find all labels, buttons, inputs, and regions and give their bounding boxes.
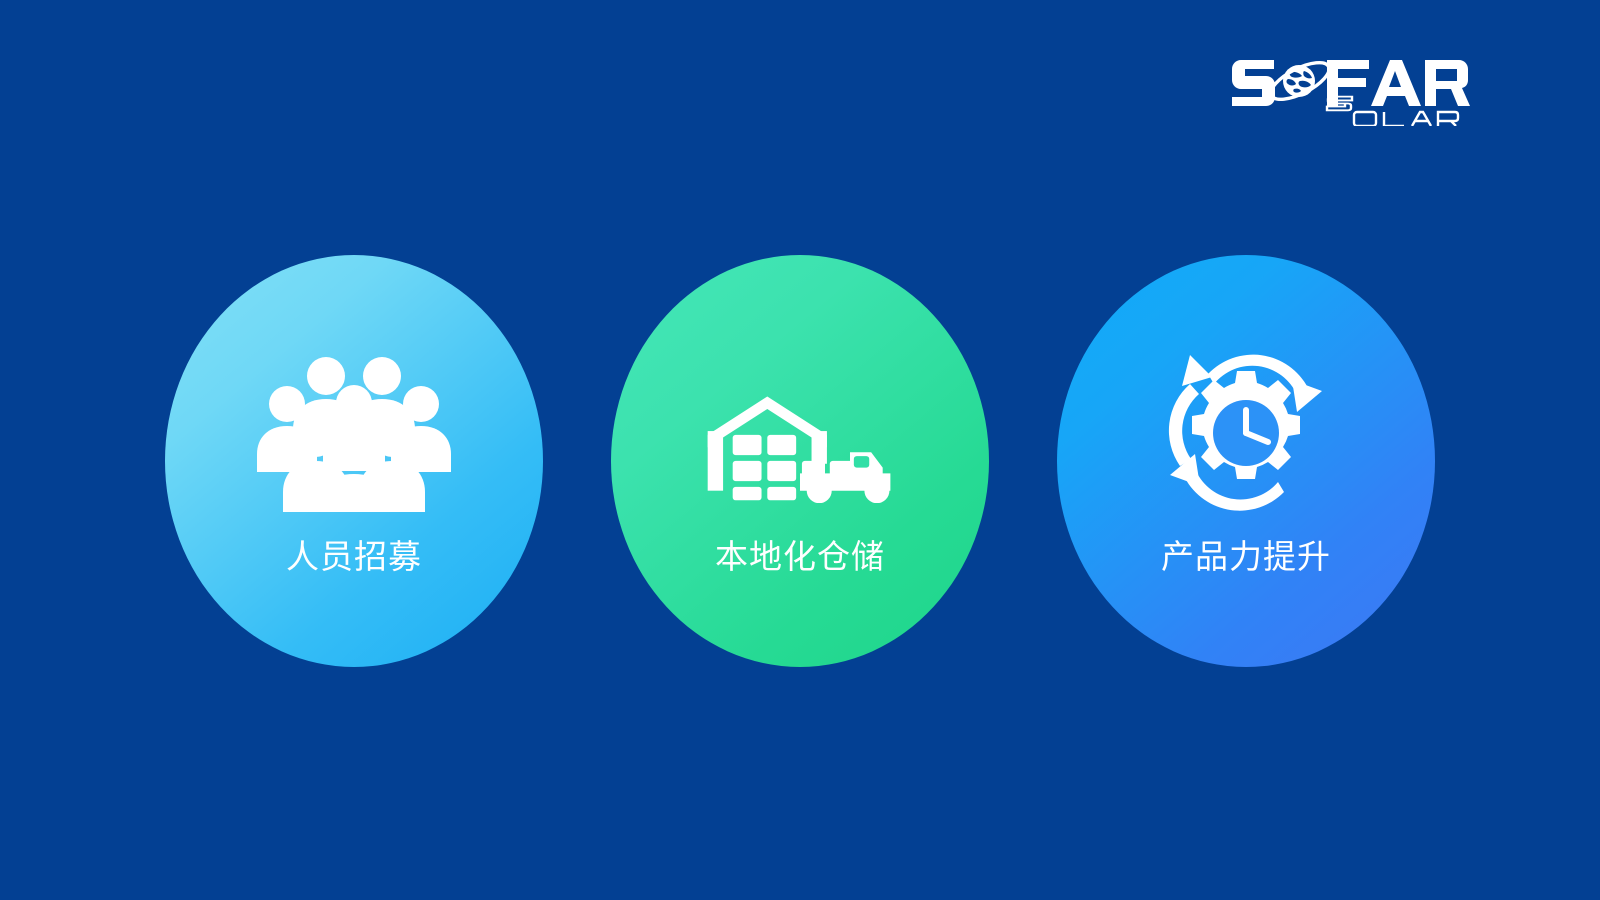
feature-circles-row: 人员招募 xyxy=(0,253,1600,669)
feature-circle-label: 人员招募 xyxy=(286,539,422,575)
feature-circle-product-capability[interactable]: 产品力提升 xyxy=(1057,255,1435,667)
feature-circle-localized-warehousing[interactable]: 本地化仓储 xyxy=(611,255,989,667)
slide-canvas: 人员招募 xyxy=(0,0,1600,900)
feature-circle-label: 本地化仓储 xyxy=(715,539,885,575)
feature-circle-label: 产品力提升 xyxy=(1161,539,1331,575)
gear-clock-cycle-icon xyxy=(1146,353,1346,513)
people-group-icon xyxy=(254,353,454,513)
feature-circle-people-recruitment[interactable]: 人员招募 xyxy=(165,255,543,667)
warehouse-truck-icon xyxy=(700,353,900,513)
brand-logo xyxy=(1230,48,1470,126)
